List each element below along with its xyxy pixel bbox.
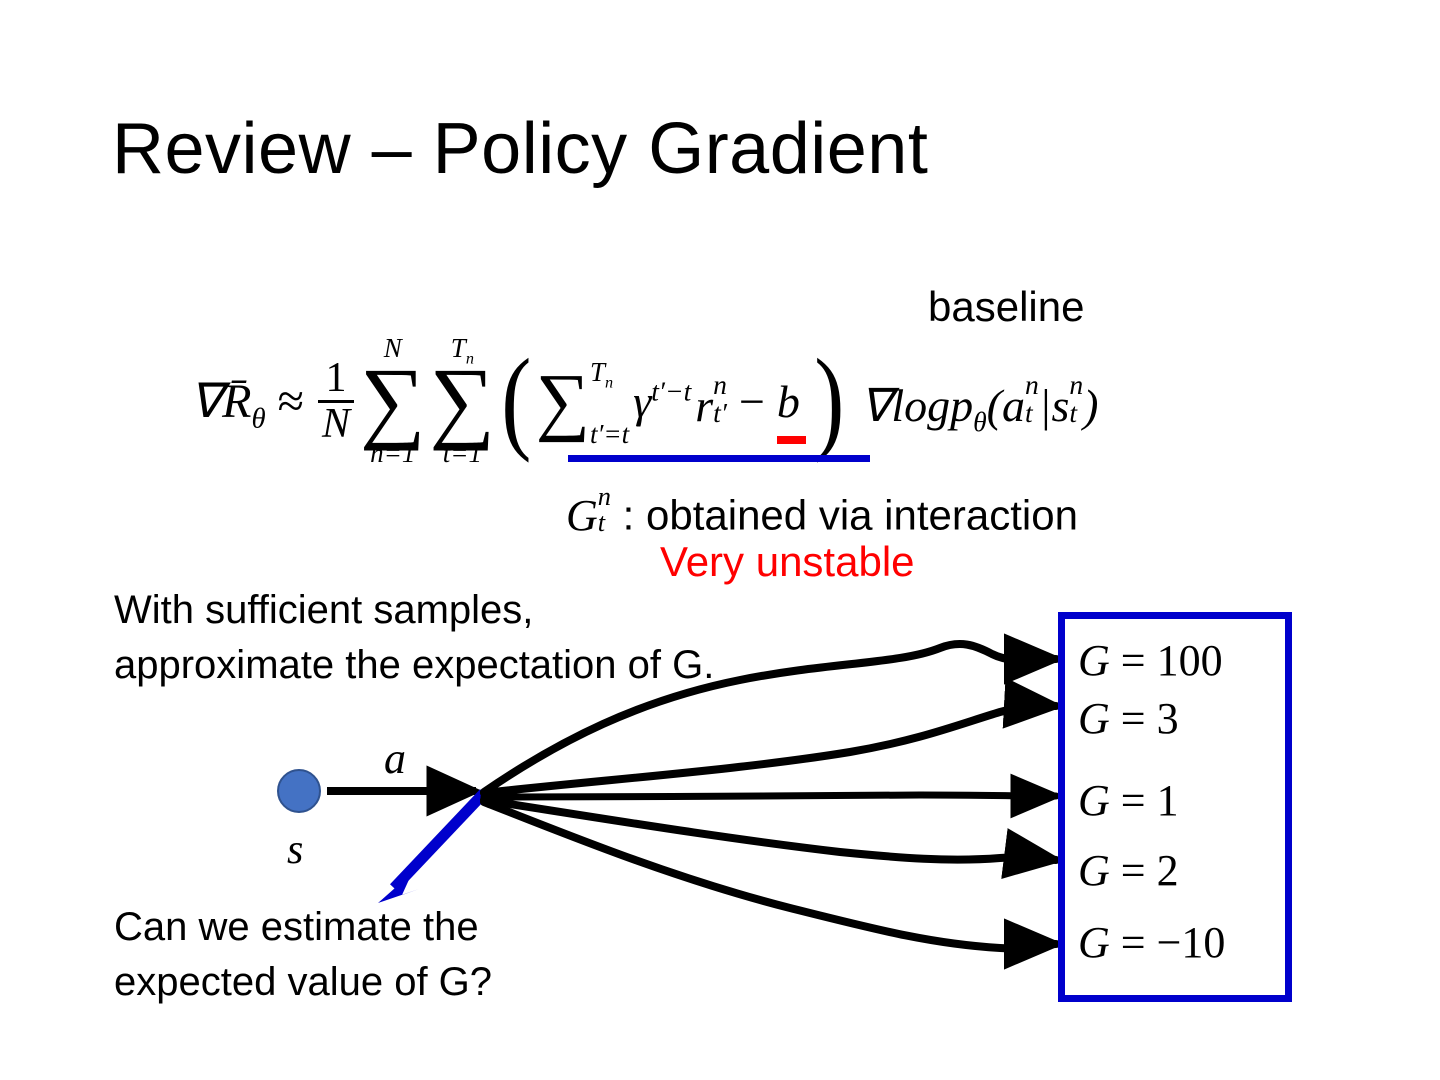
g-value-1: G = 100 [1078, 635, 1223, 686]
g-value-3: G = 1 [1078, 775, 1179, 826]
reward-term: rnt′ [695, 371, 727, 432]
action-label: a [384, 733, 406, 784]
g-symbol: Gnt [566, 491, 611, 540]
inner-sum-upper: Tn [590, 358, 629, 386]
estimate-question-note: Can we estimate the expected value of G? [114, 900, 492, 1010]
samples-line-2: approximate the expectation of G. [114, 638, 714, 693]
inner-sum-lower: t′=t [590, 420, 629, 448]
branch-curve-2 [484, 706, 1056, 793]
close-paren: ) [814, 365, 844, 437]
estimate-line-1: Can we estimate the [114, 900, 492, 955]
blue-underline-marker [568, 455, 870, 462]
middle-sum-lower: t=1 [443, 440, 482, 467]
state-label: s [287, 826, 303, 874]
g-definition-text: : obtained via interaction [623, 492, 1078, 539]
inner-summation: ∑Tnt′=t [536, 371, 629, 432]
equation-fraction: 1 N [318, 357, 354, 446]
slide-canvas: Review – Policy Gradient baseline ∇R̄θ ≈… [0, 0, 1440, 1080]
samples-line-1: With sufficient samples, [114, 583, 714, 638]
baseline-annotation-label: baseline [928, 283, 1084, 331]
g-value-2: G = 3 [1078, 693, 1179, 744]
policy-gradient-equation: ∇R̄θ ≈ 1 N N ∑ n=1 Tn ∑ t=1 ( ∑Tnt′=t γt… [190, 336, 1330, 466]
outer-sum-symbol: ∑ [360, 362, 426, 439]
open-paren: ( [501, 365, 531, 437]
outer-summation: N ∑ n=1 [360, 335, 426, 466]
estimate-line-2: expected value of G? [114, 955, 492, 1010]
very-unstable-warning: Very unstable [660, 538, 915, 586]
middle-summation: Tn ∑ t=1 [430, 335, 496, 466]
equation-approx-sign: ≈ [278, 374, 304, 429]
outer-sum-lower: n=1 [370, 440, 415, 467]
fraction-numerator: 1 [318, 357, 354, 400]
g-value-5: G = −10 [1078, 917, 1225, 968]
gamma-term: γt′−t [633, 375, 691, 428]
baseline-term-b: b [777, 376, 800, 427]
branch-curve-3 [484, 795, 1056, 797]
branch-curve-4 [484, 800, 1056, 860]
state-node-circle [277, 769, 321, 813]
alternate-action-arrow [394, 793, 484, 888]
inner-sum-limits: Tnt′=t [590, 375, 629, 432]
g-definition-caption: Gnt : obtained via interaction [566, 482, 1078, 541]
alternate-action-arrowhead [378, 873, 419, 903]
baseline-term-wrapper: b [775, 375, 802, 428]
page-title: Review – Policy Gradient [112, 108, 928, 190]
minus-sign: − [739, 375, 765, 428]
middle-sum-symbol: ∑ [430, 362, 496, 439]
fraction-denominator: N [318, 400, 354, 446]
g-value-4: G = 2 [1078, 845, 1179, 896]
red-underline-marker [777, 436, 806, 444]
branch-curve-5 [484, 802, 1056, 948]
equation-lhs: ∇R̄θ [190, 373, 266, 429]
inner-sum-symbol: ∑ [536, 371, 590, 432]
grad-log-policy: ∇logpθ(ant|snt) [861, 371, 1099, 432]
sufficient-samples-note: With sufficient samples, approximate the… [114, 583, 714, 693]
